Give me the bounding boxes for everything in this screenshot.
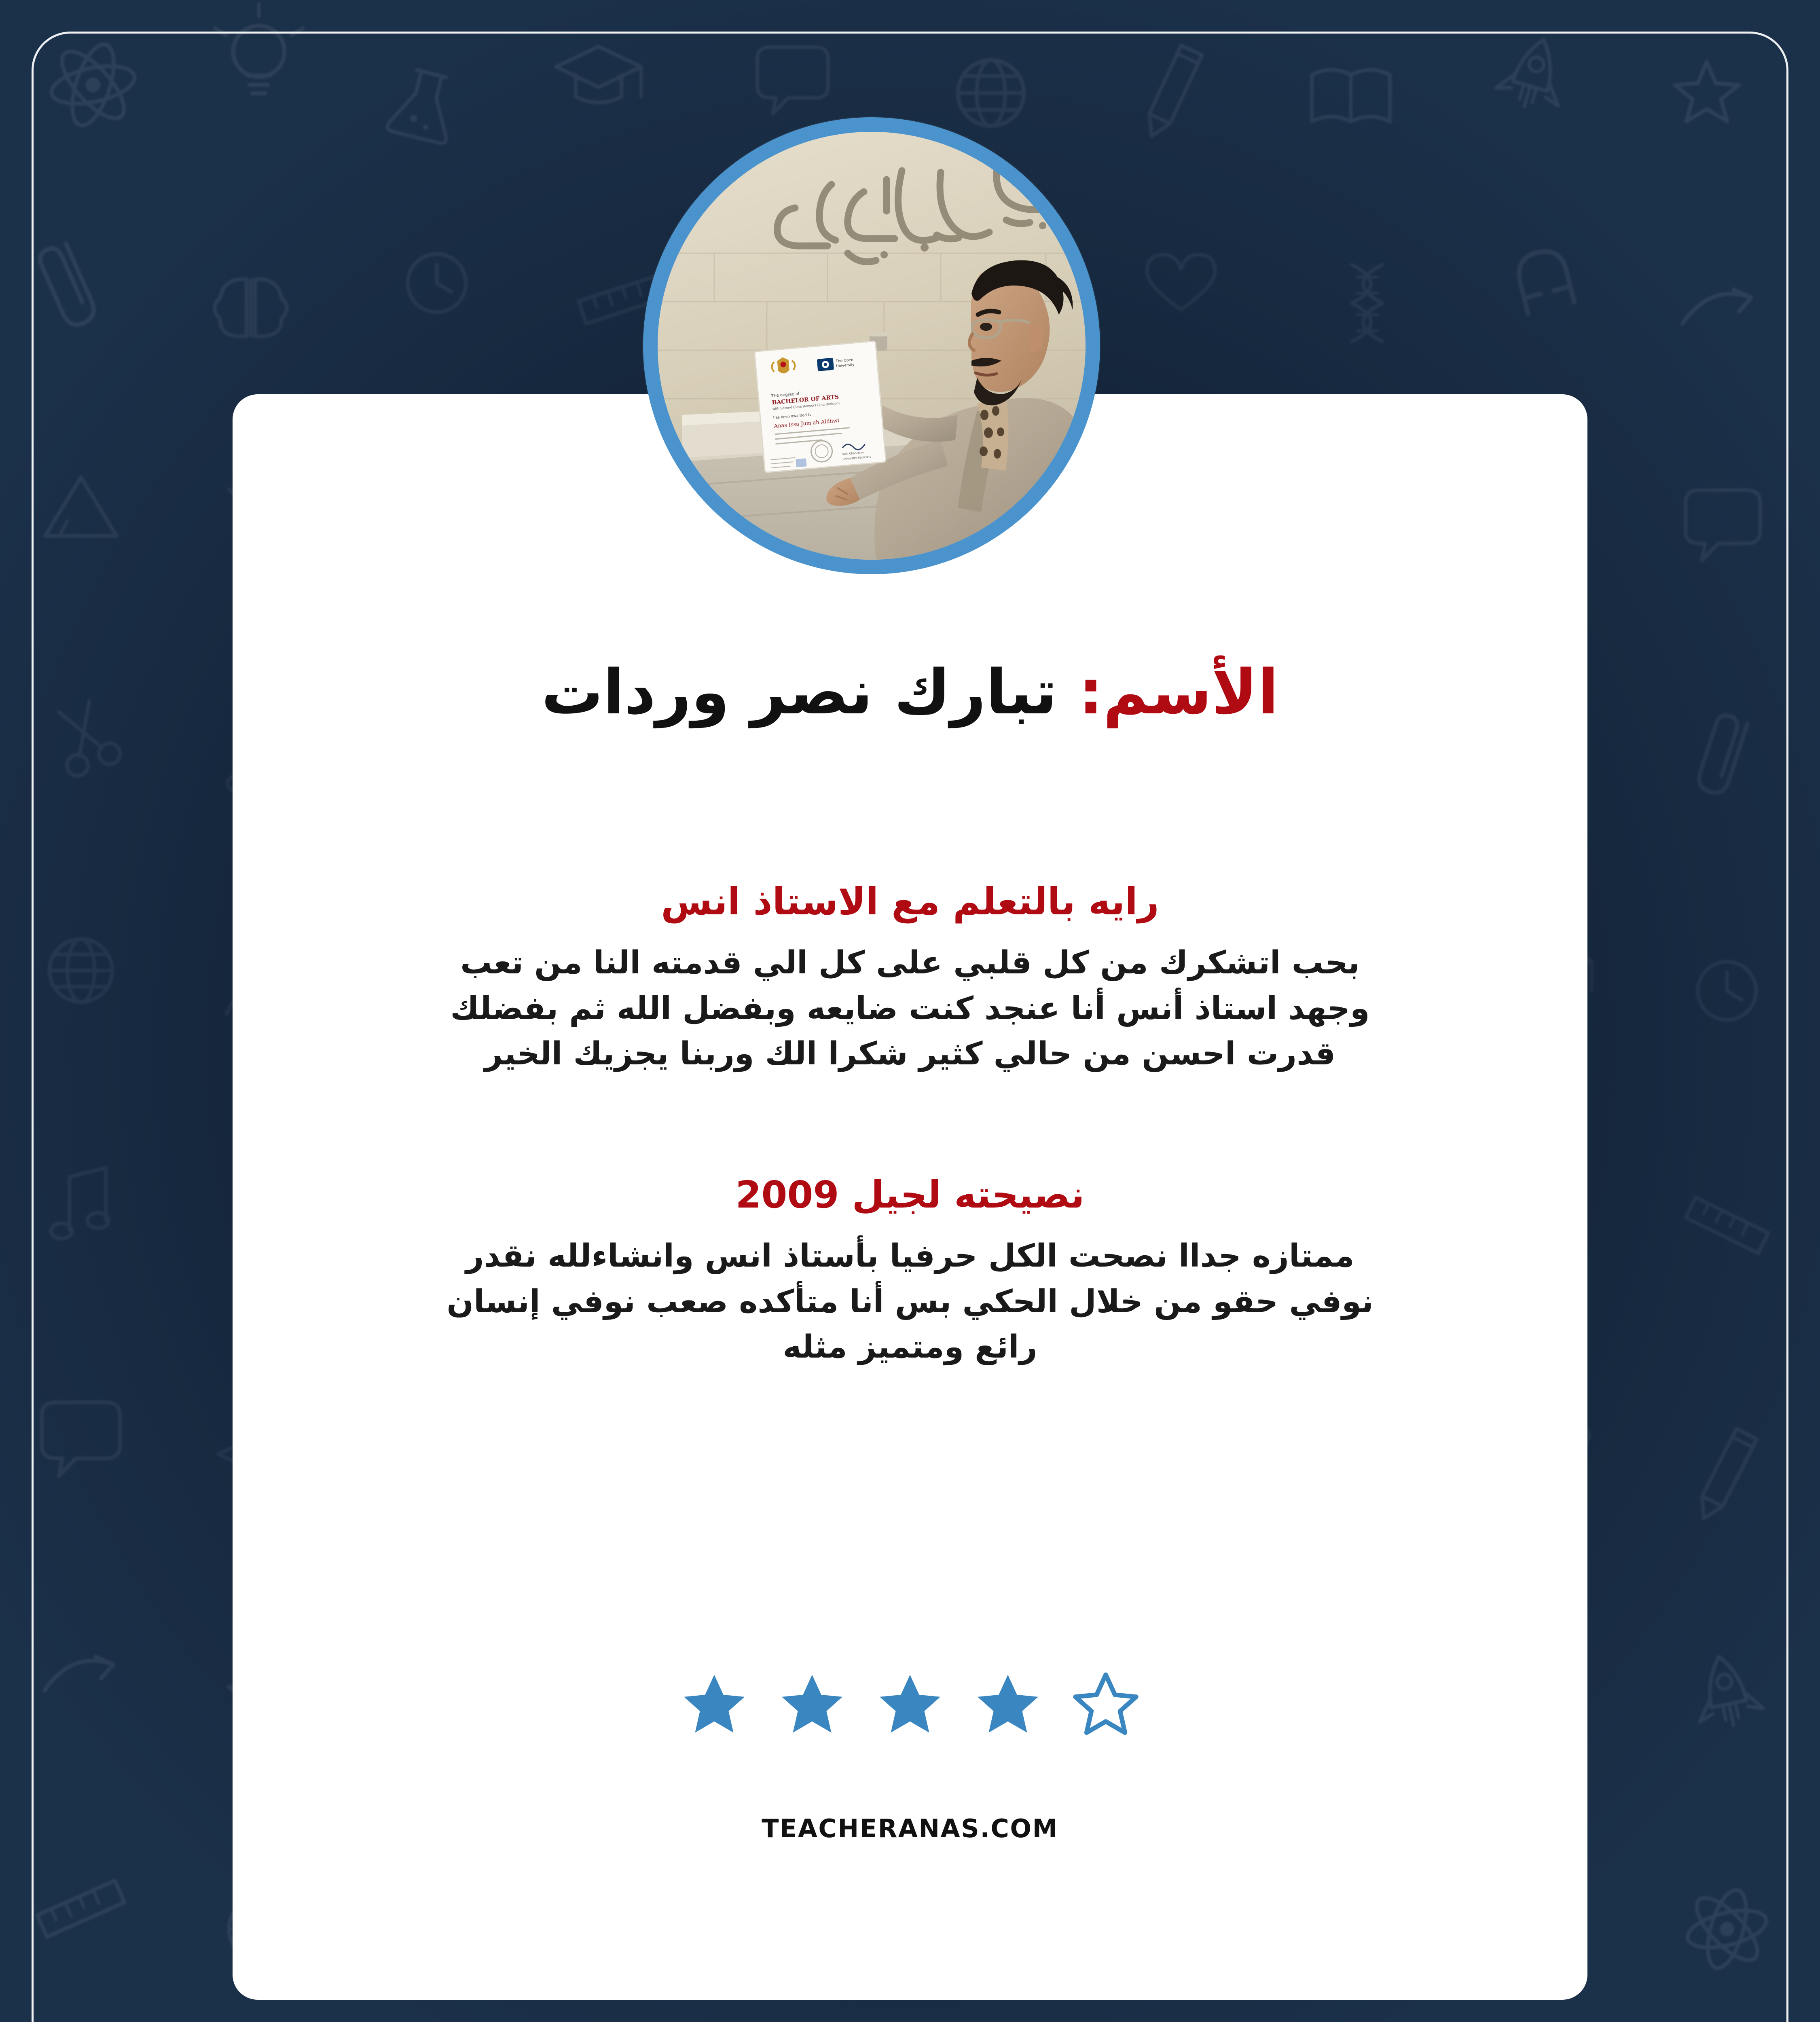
testimonial-content: الأسم: تبارك نصر وردات رايه بالتعلم مع ا… <box>233 394 1587 2000</box>
star-icon-empty-5 <box>1071 1670 1140 1739</box>
student-name-line: الأسم: تبارك نصر وردات <box>233 657 1587 728</box>
footer: TEACHERANAS.COM <box>233 1814 1587 1843</box>
star-icon-filled-3 <box>876 1670 944 1739</box>
section-advice-heading: نصيحته لجيل 2009 <box>342 1173 1478 1217</box>
website-url: TEACHERANAS.COM <box>233 1814 1587 1843</box>
section-advice-body: ممتازه جداا نصحت الكل حرفيا بأستاذ انس و… <box>421 1233 1399 1370</box>
rating-stars <box>233 1670 1587 1739</box>
star-icon-filled-2 <box>778 1670 847 1739</box>
star-icon-filled-1 <box>680 1670 749 1739</box>
name-value: تبارك نصر وردات <box>542 656 1057 728</box>
star-icon-filled-4 <box>973 1670 1042 1739</box>
name-label: الأسم: <box>1079 656 1279 728</box>
section-experience-heading: رايه بالتعلم مع الاستاذ انس <box>342 880 1478 924</box>
section-experience-body: بحب اتشكرك من كل قلبي على كل الي قدمته ا… <box>421 940 1399 1077</box>
section-advice: نصيحته لجيل 2009 ممتازه جداا نصحت الكل ح… <box>342 1173 1478 1370</box>
section-experience: رايه بالتعلم مع الاستاذ انس بحب اتشكرك م… <box>342 880 1478 1077</box>
